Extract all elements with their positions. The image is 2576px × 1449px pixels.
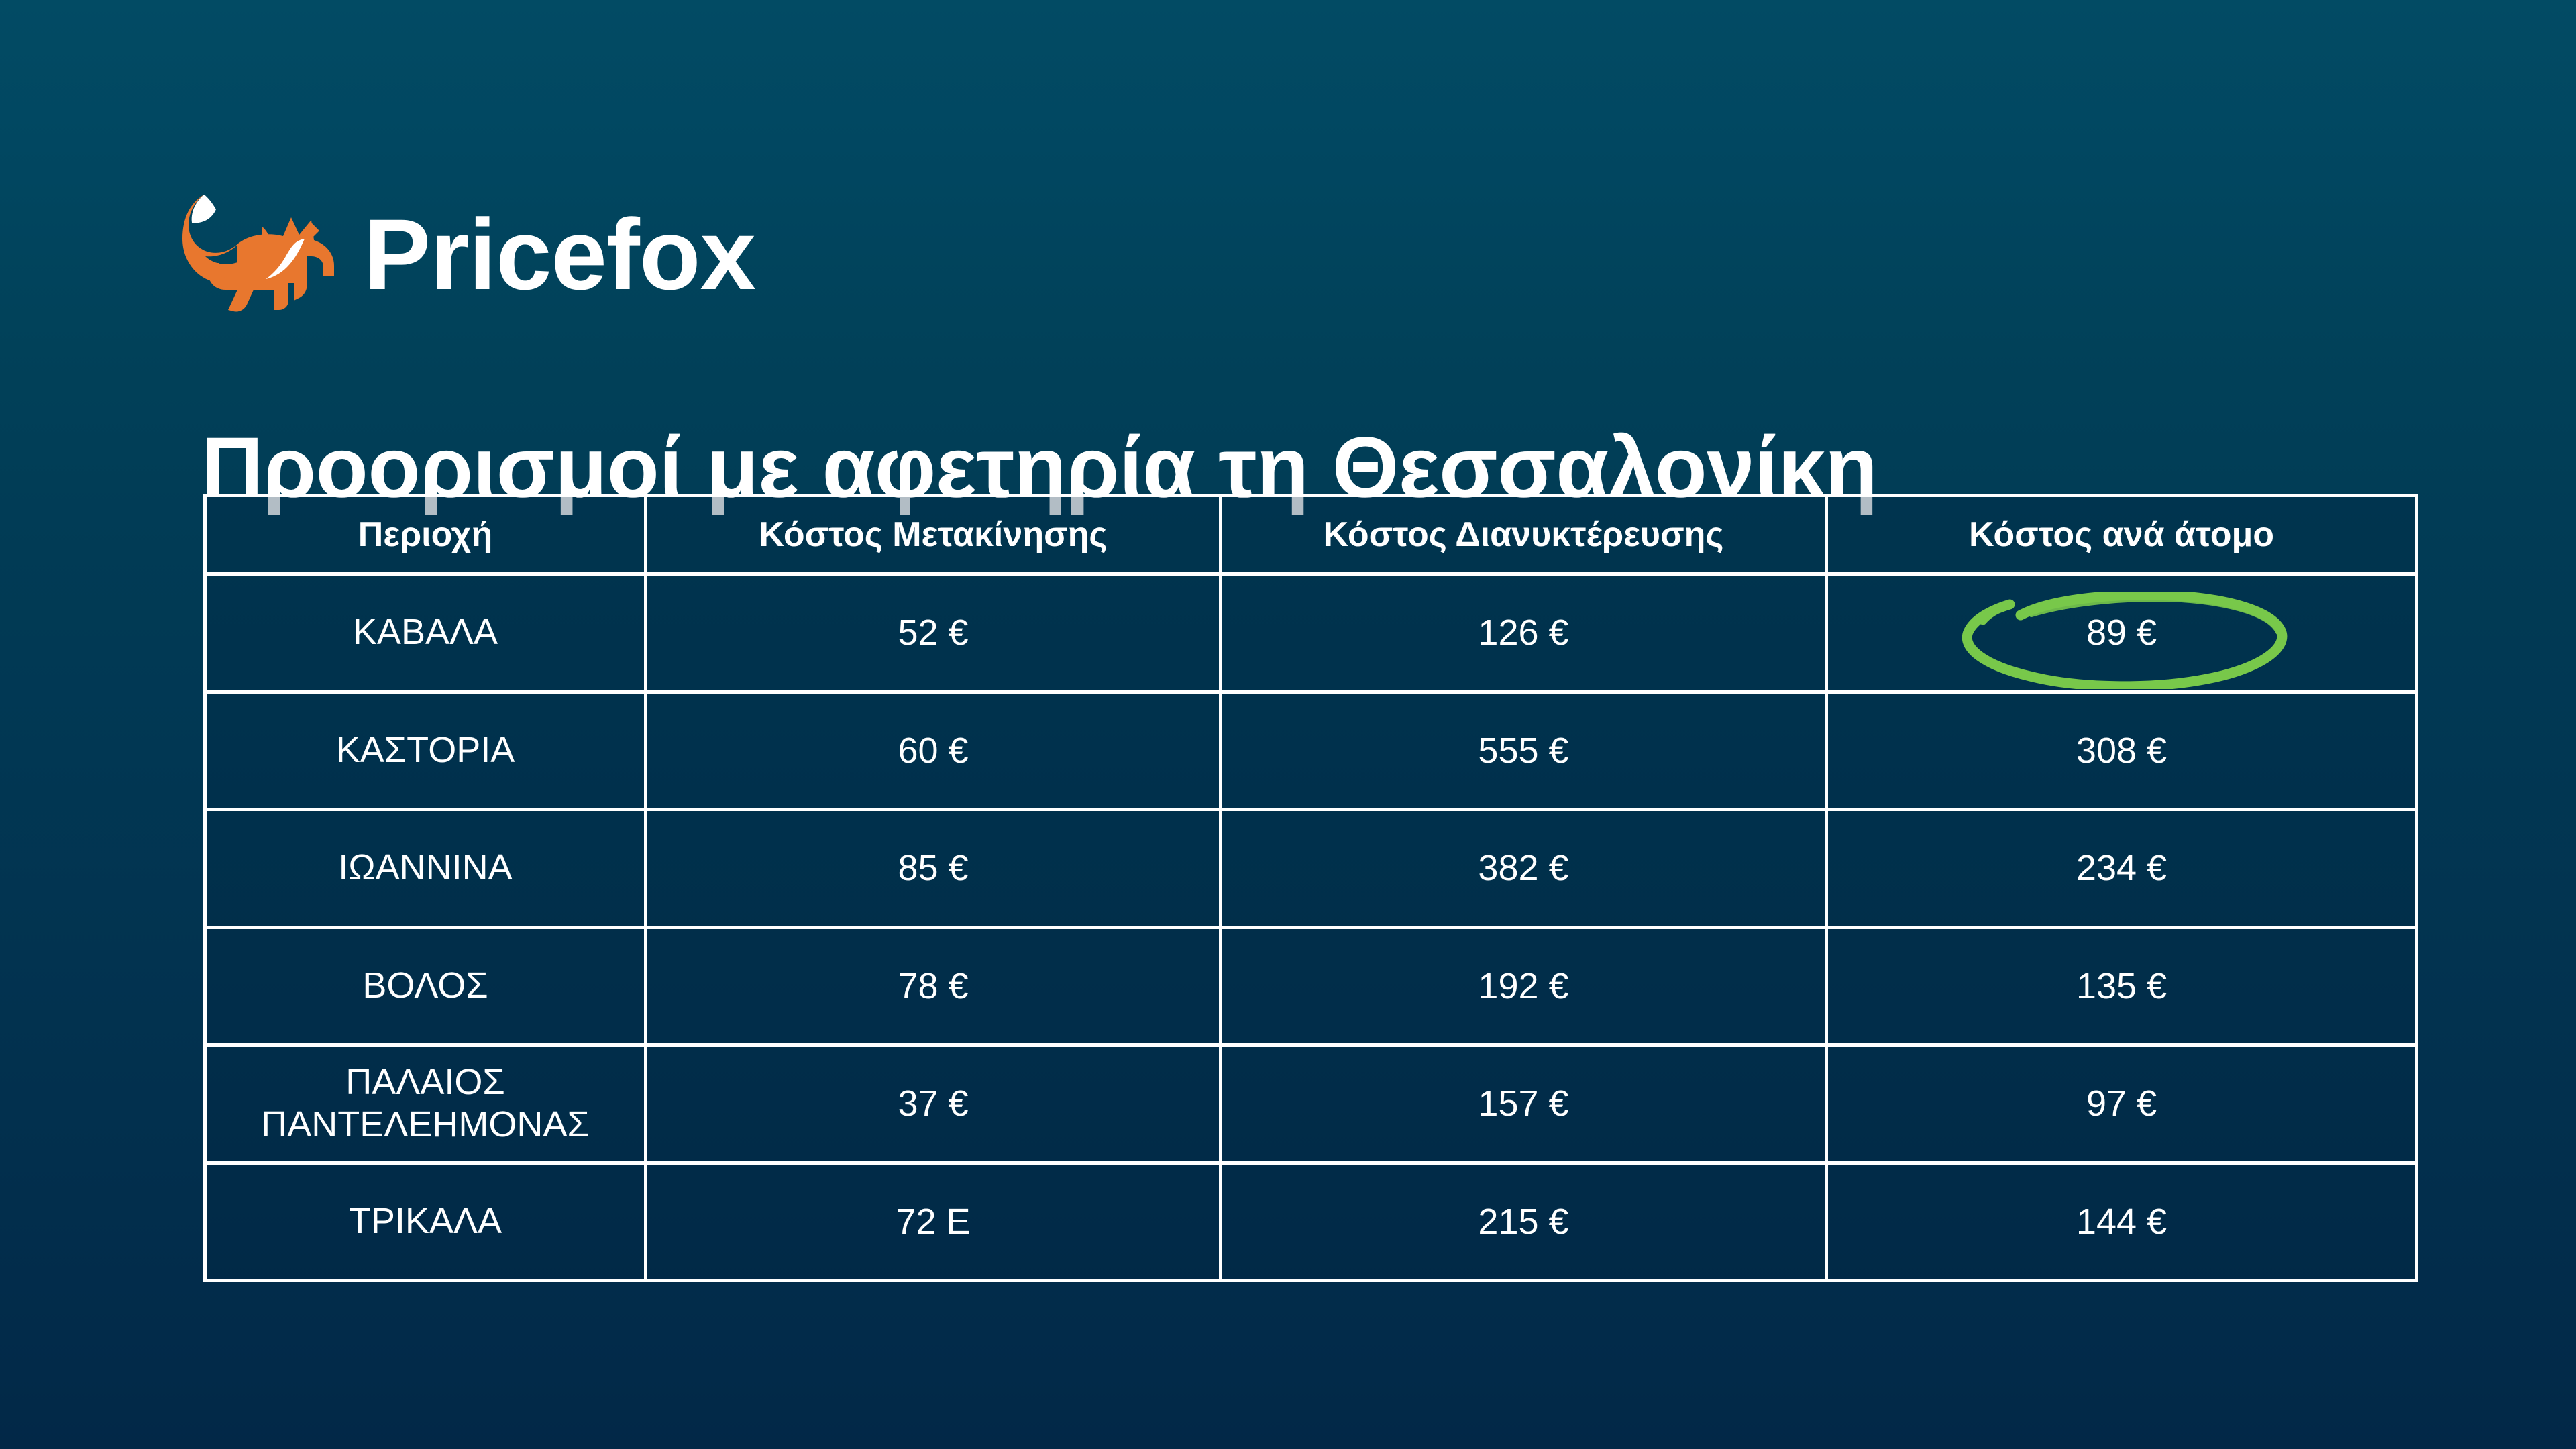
region-name: ΚΑΣΤΟΡΙΑ <box>207 729 644 772</box>
cell-region: ΚΑΒΑΛΑ <box>205 574 646 692</box>
cell-overnight-cost: 126 € <box>1221 574 1827 692</box>
table-row: ΠΑΛΑΙΟΣ ΠΑΝΤΕΛΕΗΜΟΝΑΣ 37 € 157 € 97 € <box>205 1045 2417 1163</box>
table-row: ΒΟΛΟΣ 78 € 192 € 135 € <box>205 927 2417 1045</box>
table-row: ΙΩΑΝΝΙΝΑ 85 € 382 € 234 € <box>205 810 2417 928</box>
cell-transport-cost: 72 E <box>646 1163 1221 1281</box>
table-row: ΚΑΣΤΟΡΙΑ 60 € 555 € 308 € <box>205 692 2417 810</box>
cell-transport-cost: 78 € <box>646 927 1221 1045</box>
region-name-line-2: ΠΑΝΤΕΛΕΗΜΟΝΑΣ <box>207 1104 644 1146</box>
cell-transport-cost: 37 € <box>646 1045 1221 1163</box>
column-header-cost-per-person: Κόστος ανά άτομο <box>1827 496 2417 574</box>
cell-transport-cost: 60 € <box>646 692 1221 810</box>
region-name: ΚΑΒΑΛΑ <box>207 611 644 654</box>
region-name-line-1: ΠΑΛΑΙΟΣ <box>207 1061 644 1104</box>
slide-canvas: Pricefox Προορισμοί με αφετηρία τη Θεσσα… <box>0 0 2576 1449</box>
region-name: ΙΩΑΝΝΙΝΑ <box>207 847 644 890</box>
cell-cost-per-person: 234 € <box>1827 810 2417 928</box>
cell-region: ΤΡΙΚΑΛΑ <box>205 1163 646 1281</box>
region-name: ΒΟΛΟΣ <box>207 965 644 1008</box>
cell-transport-cost: 85 € <box>646 810 1221 928</box>
cell-transport-cost: 52 € <box>646 574 1221 692</box>
brand-logo: Pricefox <box>173 182 755 317</box>
region-name: ΤΡΙΚΑΛΑ <box>207 1200 644 1243</box>
brand-wordmark: Pricefox <box>364 204 755 305</box>
cell-cost-per-person: 89 € <box>1827 574 2417 692</box>
table-row: ΤΡΙΚΑΛΑ 72 E 215 € 144 € <box>205 1163 2417 1281</box>
cell-region: ΚΑΣΤΟΡΙΑ <box>205 692 646 810</box>
cell-overnight-cost: 555 € <box>1221 692 1827 810</box>
cell-cost-per-person: 308 € <box>1827 692 2417 810</box>
column-header-region: Περιοχή <box>205 496 646 574</box>
cell-overnight-cost: 192 € <box>1221 927 1827 1045</box>
cell-region: ΒΟΛΟΣ <box>205 927 646 1045</box>
destination-costs-table: Περιοχή Κόστος Μετακίνησης Κόστος Διανυκ… <box>203 494 2415 1282</box>
cell-cost-per-person: 144 € <box>1827 1163 2417 1281</box>
cell-overnight-cost: 157 € <box>1221 1045 1827 1163</box>
cell-overnight-cost: 215 € <box>1221 1163 1827 1281</box>
cell-region: ΠΑΛΑΙΟΣ ΠΑΝΤΕΛΕΗΜΟΝΑΣ <box>205 1045 646 1163</box>
cell-region: ΙΩΑΝΝΙΝΑ <box>205 810 646 928</box>
cell-overnight-cost: 382 € <box>1221 810 1827 928</box>
cell-cost-per-person: 97 € <box>1827 1045 2417 1163</box>
column-header-transport-cost: Κόστος Μετακίνησης <box>646 496 1221 574</box>
table-header-row: Περιοχή Κόστος Μετακίνησης Κόστος Διανυκ… <box>205 496 2417 574</box>
table-row: ΚΑΒΑΛΑ 52 € 126 € 89 € <box>205 574 2417 692</box>
column-header-overnight-cost: Κόστος Διανυκτέρευσης <box>1221 496 1827 574</box>
fox-logo-icon <box>173 182 341 317</box>
cell-cost-per-person: 135 € <box>1827 927 2417 1045</box>
